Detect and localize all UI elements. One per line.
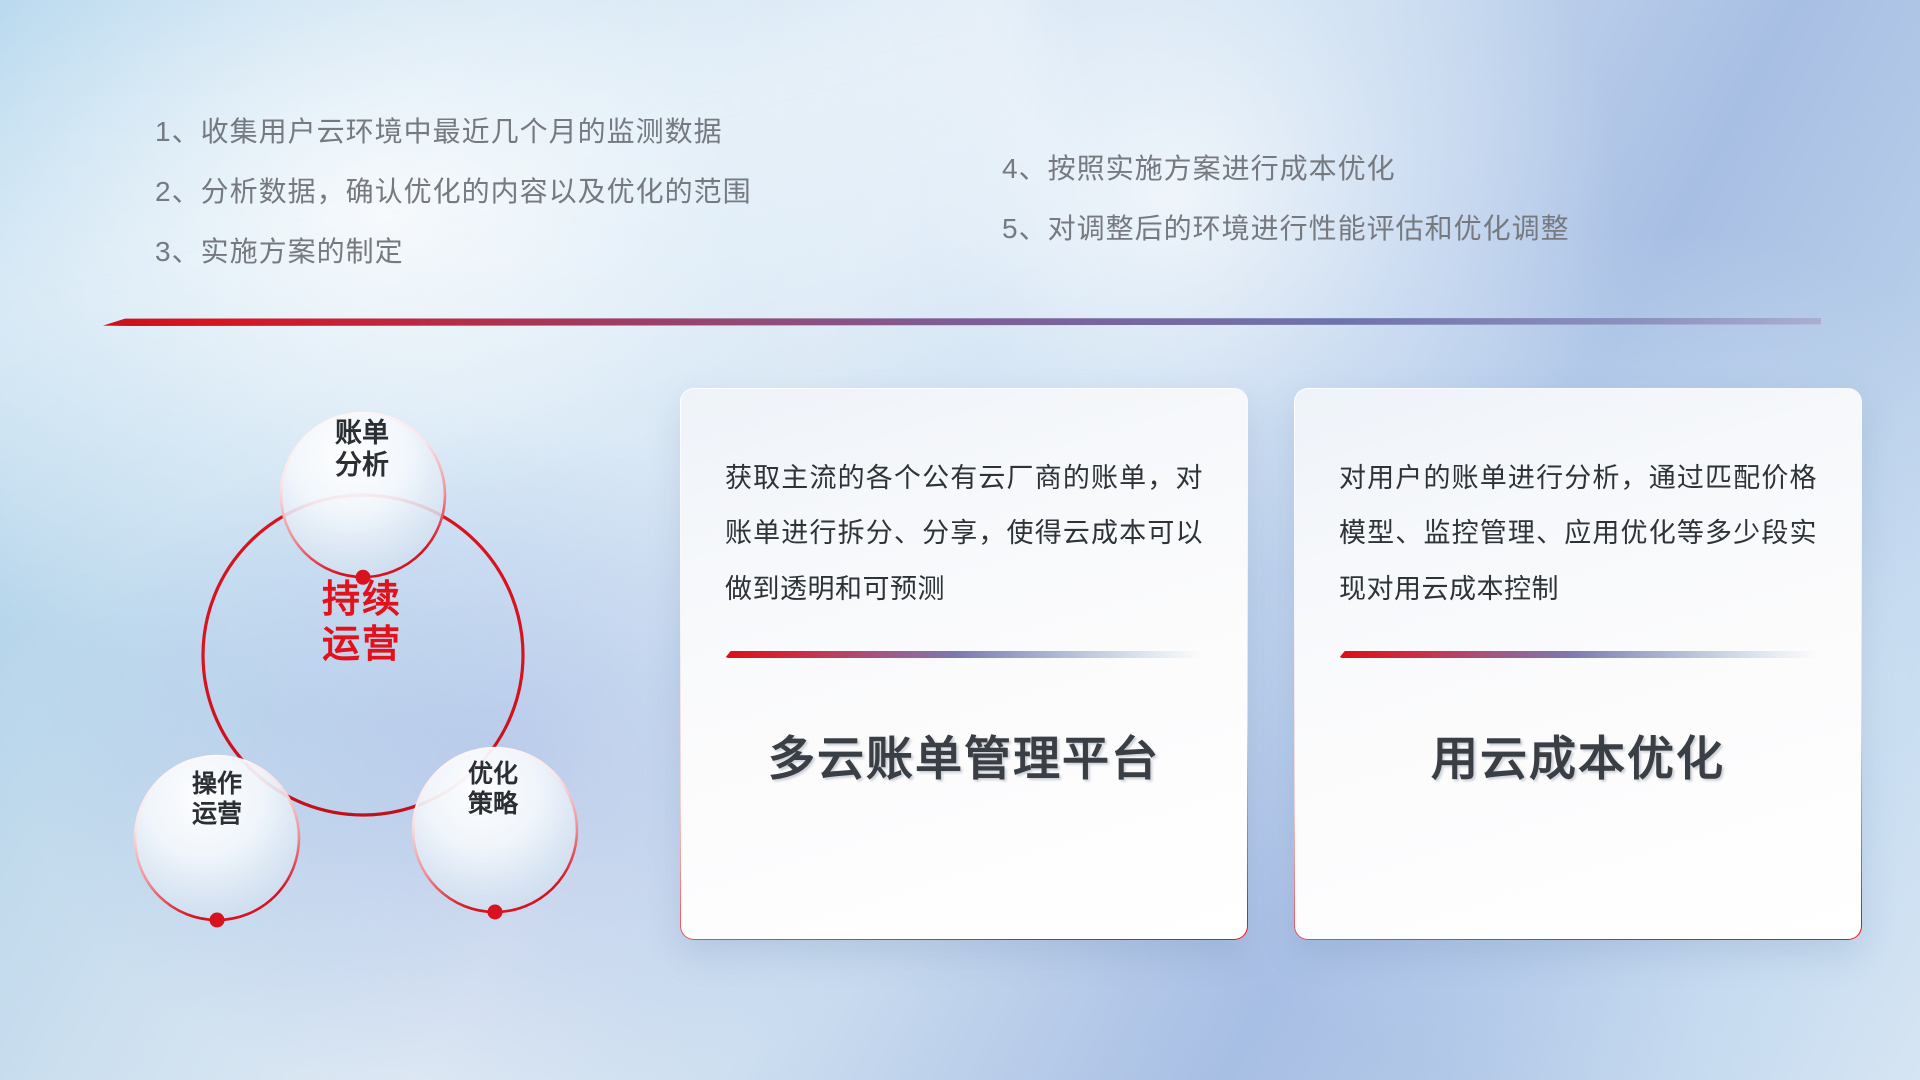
slide-canvas: 1、收集用户云环境中最近几个月的监测数据 2、分析数据，确认优化的内容以及优化的… bbox=[0, 0, 1920, 1080]
card-accent-rule bbox=[1339, 651, 1817, 658]
step-item-2: 2、分析数据，确认优化的内容以及优化的范围 bbox=[155, 178, 752, 206]
steps-right-column: 4、按照实施方案进行成本优化 5、对调整后的环境进行性能评估和优化调整 bbox=[1002, 155, 1570, 275]
venn-node-dot-top bbox=[356, 570, 371, 585]
feature-card-multicloud-billing[interactable]: 获取主流的各个公有云厂商的账单，对账单进行拆分、分享，使得云成本可以做到透明和可… bbox=[680, 388, 1248, 940]
card-body-text: 对用户的账单进行分析，通过匹配价格模型、监控管理、应用优化等多少段实现对用云成本… bbox=[1339, 451, 1817, 617]
step-item-1: 1、收集用户云环境中最近几个月的监测数据 bbox=[155, 118, 752, 146]
venn-node-dot-bottom-right bbox=[488, 905, 503, 920]
card-accent-rule bbox=[725, 651, 1203, 658]
feature-card-cost-optimization[interactable]: 对用户的账单进行分析，通过匹配价格模型、监控管理、应用优化等多少段实现对用云成本… bbox=[1294, 388, 1862, 940]
step-item-3: 3、实施方案的制定 bbox=[155, 238, 752, 266]
steps-left-column: 1、收集用户云环境中最近几个月的监测数据 2、分析数据，确认优化的内容以及优化的… bbox=[155, 118, 752, 298]
card-inner: 对用户的账单进行分析，通过匹配价格模型、监控管理、应用优化等多少段实现对用云成本… bbox=[1295, 389, 1861, 939]
step-item-4: 4、按照实施方案进行成本优化 bbox=[1002, 155, 1570, 183]
card-body-text: 获取主流的各个公有云厂商的账单，对账单进行拆分、分享，使得云成本可以做到透明和可… bbox=[725, 451, 1203, 617]
venn-node-dot-bottom-left bbox=[210, 913, 225, 928]
card-title: 用云成本优化 bbox=[1339, 720, 1817, 789]
venn-bubble-bottom-right bbox=[413, 748, 577, 912]
step-item-5: 5、对调整后的环境进行性能评估和优化调整 bbox=[1002, 215, 1570, 243]
card-title: 多云账单管理平台 bbox=[725, 720, 1203, 789]
section-divider bbox=[103, 318, 1821, 326]
venn-bubble-top bbox=[281, 413, 445, 577]
card-inner: 获取主流的各个公有云厂商的账单，对账单进行拆分、分享，使得云成本可以做到透明和可… bbox=[681, 389, 1247, 939]
venn-bubble-bottom-left bbox=[135, 756, 299, 920]
venn-diagram: 账单 分析 持续 运营 操作 运营 优化 策略 bbox=[95, 350, 615, 950]
